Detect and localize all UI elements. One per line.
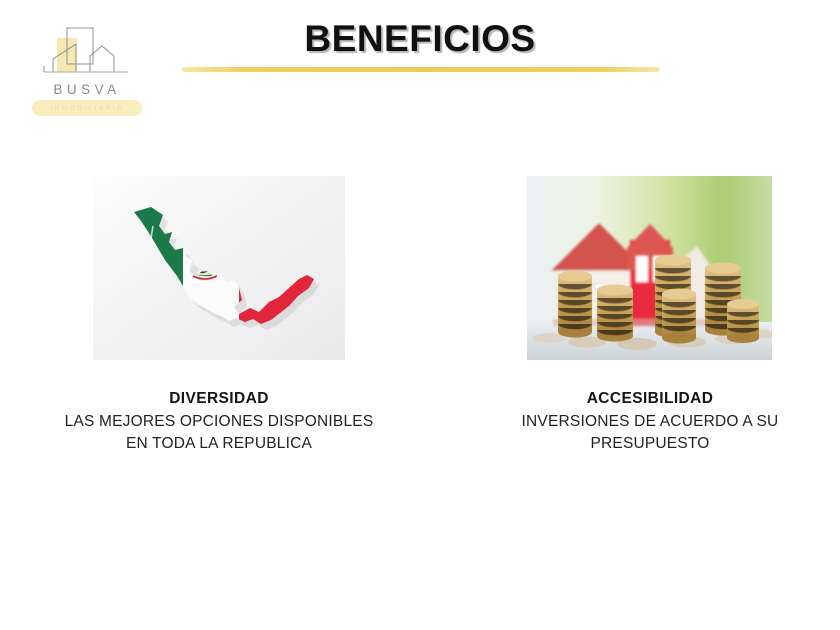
logo-tagline: INMOBILIARIA (50, 105, 123, 112)
benefit-body-line-2: EN TODA LA REPUBLICA (31, 433, 407, 455)
benefit-body-line-2: PRESUPUESTO (497, 433, 803, 455)
benefit-title: DIVERSIDAD (31, 388, 407, 410)
benefit-caption-diversidad: DIVERSIDAD LAS MEJORES OPCIONES DISPONIB… (31, 388, 407, 455)
logo-tagline-pill: INMOBILIARIA (32, 100, 142, 116)
benefit-body-line-1: INVERSIONES DE ACUERDO A SU (497, 411, 803, 433)
benefit-panel-diversidad: DIVERSIDAD LAS MEJORES OPCIONES DISPONIB… (93, 176, 345, 360)
house-with-coin-stacks-image (527, 176, 772, 360)
benefit-body-line-1: LAS MEJORES OPCIONES DISPONIBLES (31, 411, 407, 433)
title-underline-rule (182, 67, 660, 72)
benefit-panel-accesibilidad: ACCESIBILIDAD INVERSIONES DE ACUERDO A S… (527, 176, 772, 360)
page-title: BENEFICIOS (0, 18, 840, 60)
benefit-caption-accesibilidad: ACCESIBILIDAD INVERSIONES DE ACUERDO A S… (497, 388, 803, 455)
benefit-title: ACCESIBILIDAD (497, 388, 803, 410)
logo-wordmark: BUSVA (28, 82, 146, 97)
mexico-map-flag-image (93, 176, 345, 360)
